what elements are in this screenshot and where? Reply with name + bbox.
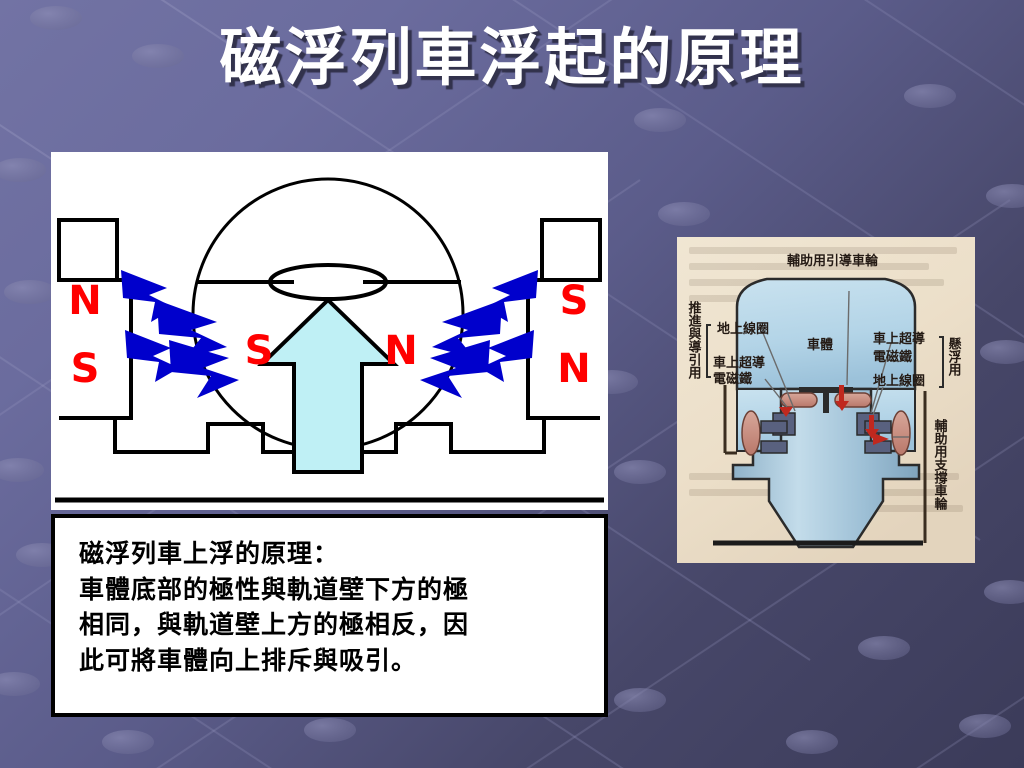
- photo-label-left-upper: 地上線圈: [717, 321, 769, 337]
- pole-label-guideway-right-upper: S: [560, 278, 589, 324]
- caption-line-2: 車體底部的極性與軌道壁下方的極: [79, 572, 582, 608]
- caption-line-4: 此可將車體向上排斥與吸引。: [79, 643, 582, 679]
- levitation-diagram: N S S N S N: [51, 152, 608, 510]
- photo-label-left-lower-2: 電磁鐵: [713, 371, 752, 387]
- photo-label-right-bottom: 輔助用支撐車輪: [932, 418, 949, 511]
- pole-label-vehicle-left: S: [245, 328, 274, 374]
- photo-label-left-lower-1: 車上超導: [713, 355, 765, 371]
- pole-label-guideway-right-lower: N: [557, 346, 590, 392]
- pole-label-vehicle-right: N: [384, 328, 417, 374]
- caption-line-1: 磁浮列車上浮的原理：: [79, 536, 582, 572]
- caption-line-3: 相同，與軌道壁上方的極相反，因: [79, 607, 582, 643]
- pole-label-guideway-left-lower: S: [71, 346, 100, 392]
- pole-label-guideway-left-upper: N: [68, 278, 101, 324]
- caption-box: 磁浮列車上浮的原理： 車體底部的極性與軌道壁下方的極 相同，與軌道壁上方的極相反…: [51, 514, 608, 717]
- slide-title: 磁浮列車浮起的原理: [0, 22, 1024, 93]
- photo-label-right-upper-1: 車上超導: [873, 331, 925, 347]
- slide-canvas: 磁浮列車浮起的原理: [0, 0, 1024, 768]
- cross-section-photo-panel: 輔助用引導車輪 地上線圈 車上超導 電磁鐵 車體 車上超導 電磁鐵 地上線圈 推…: [677, 237, 975, 563]
- photo-label-left-bracket: 推進與導引用: [686, 300, 703, 380]
- levitation-diagram-panel: N S S N S N: [51, 152, 608, 510]
- photo-label-right-upper-2: 電磁鐵: [873, 349, 912, 365]
- photo-label-right-bracket: 懸浮用: [946, 336, 963, 377]
- photo-label-top-center: 輔助用引導車輪: [787, 253, 879, 269]
- cross-section-diagram: 輔助用引導車輪 地上線圈 車上超導 電磁鐵 車體 車上超導 電磁鐵 地上線圈 推…: [677, 237, 975, 563]
- photo-label-center: 車體: [807, 337, 833, 353]
- photo-label-right-lower: 地上線圈: [873, 373, 925, 389]
